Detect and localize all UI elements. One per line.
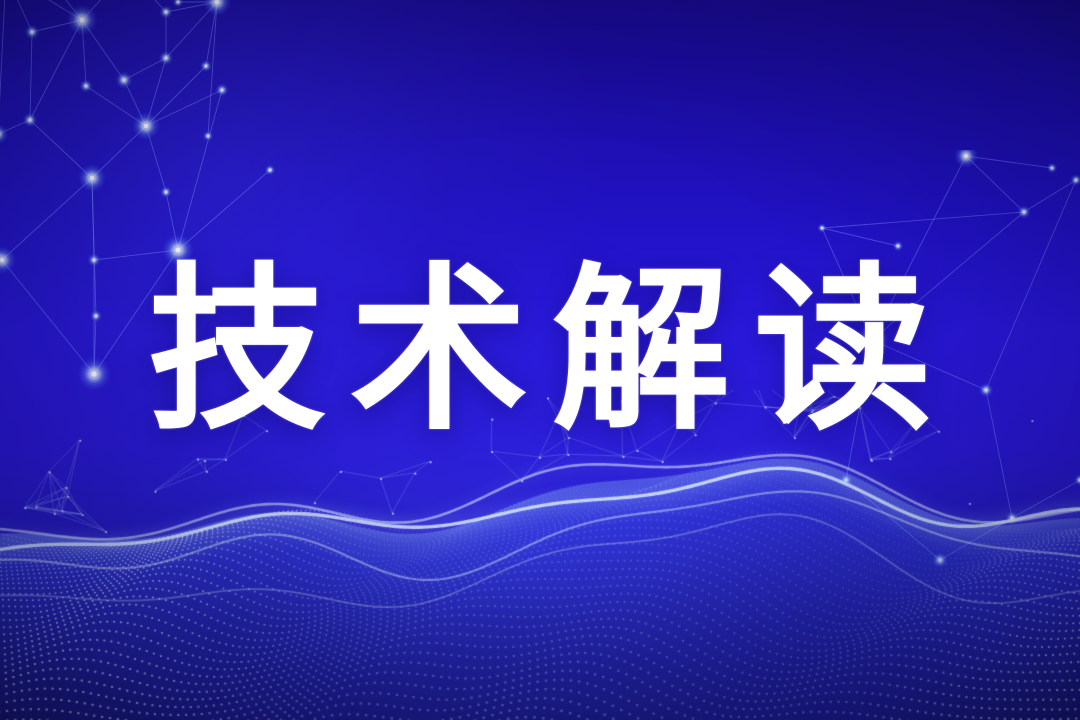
tech-banner: 技术解读 xyxy=(0,0,1080,720)
background-gradient xyxy=(0,0,1080,720)
